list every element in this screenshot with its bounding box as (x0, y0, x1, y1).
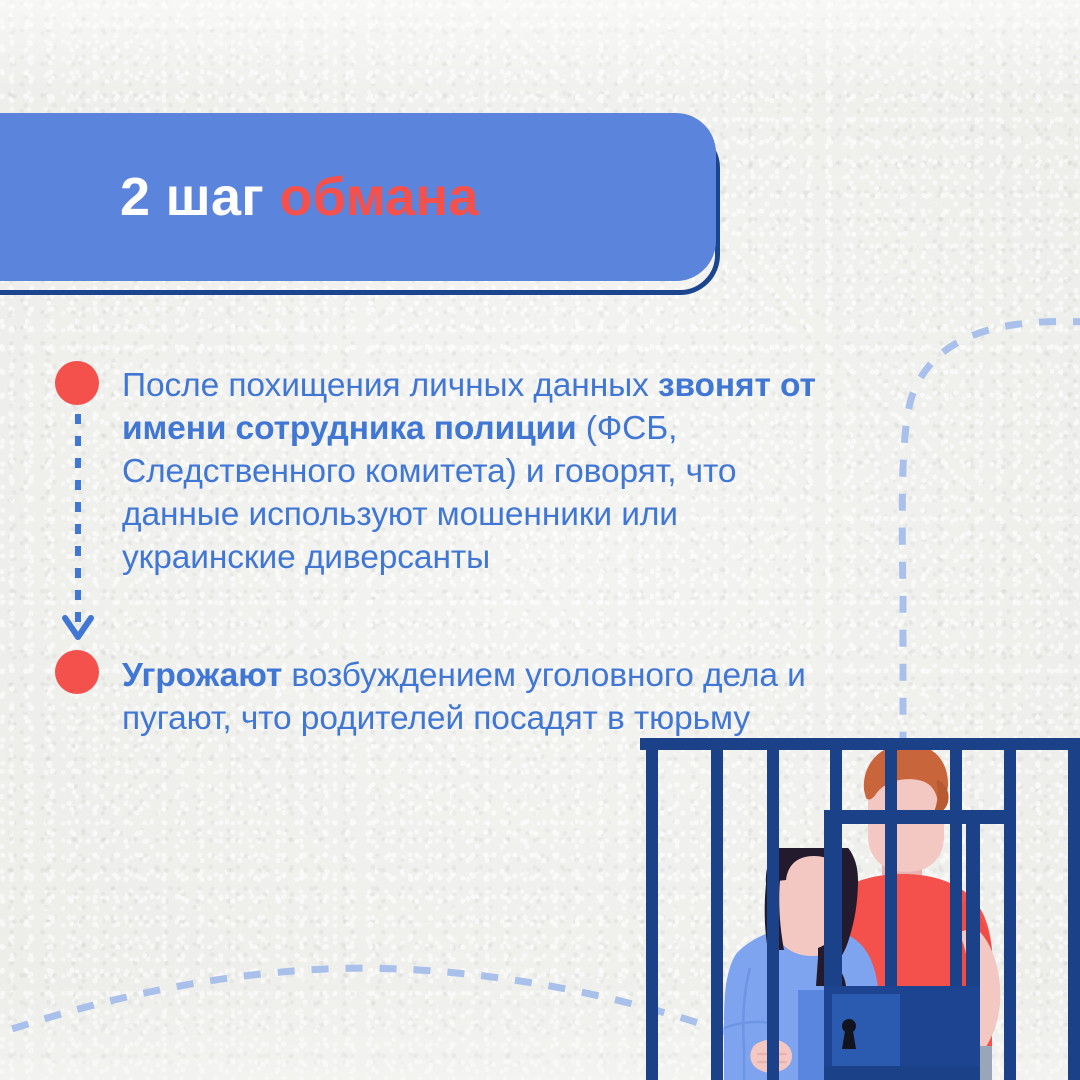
door-lock-plate (832, 994, 900, 1072)
dashed-arrow-connector-icon (56, 412, 100, 644)
bullet-marker-1 (55, 361, 99, 405)
bullet-marker-2 (55, 650, 99, 694)
couple-behind-jail-bars-illustration (640, 728, 1080, 1080)
bullet-text-1: После похищения личных данных звонят от … (122, 364, 822, 579)
infographic-canvas: 2 шаг обмана После похищения личных данн… (0, 0, 1080, 1080)
bullet-text-2: Угрожают возбуждением уголовного дела и … (122, 654, 892, 740)
